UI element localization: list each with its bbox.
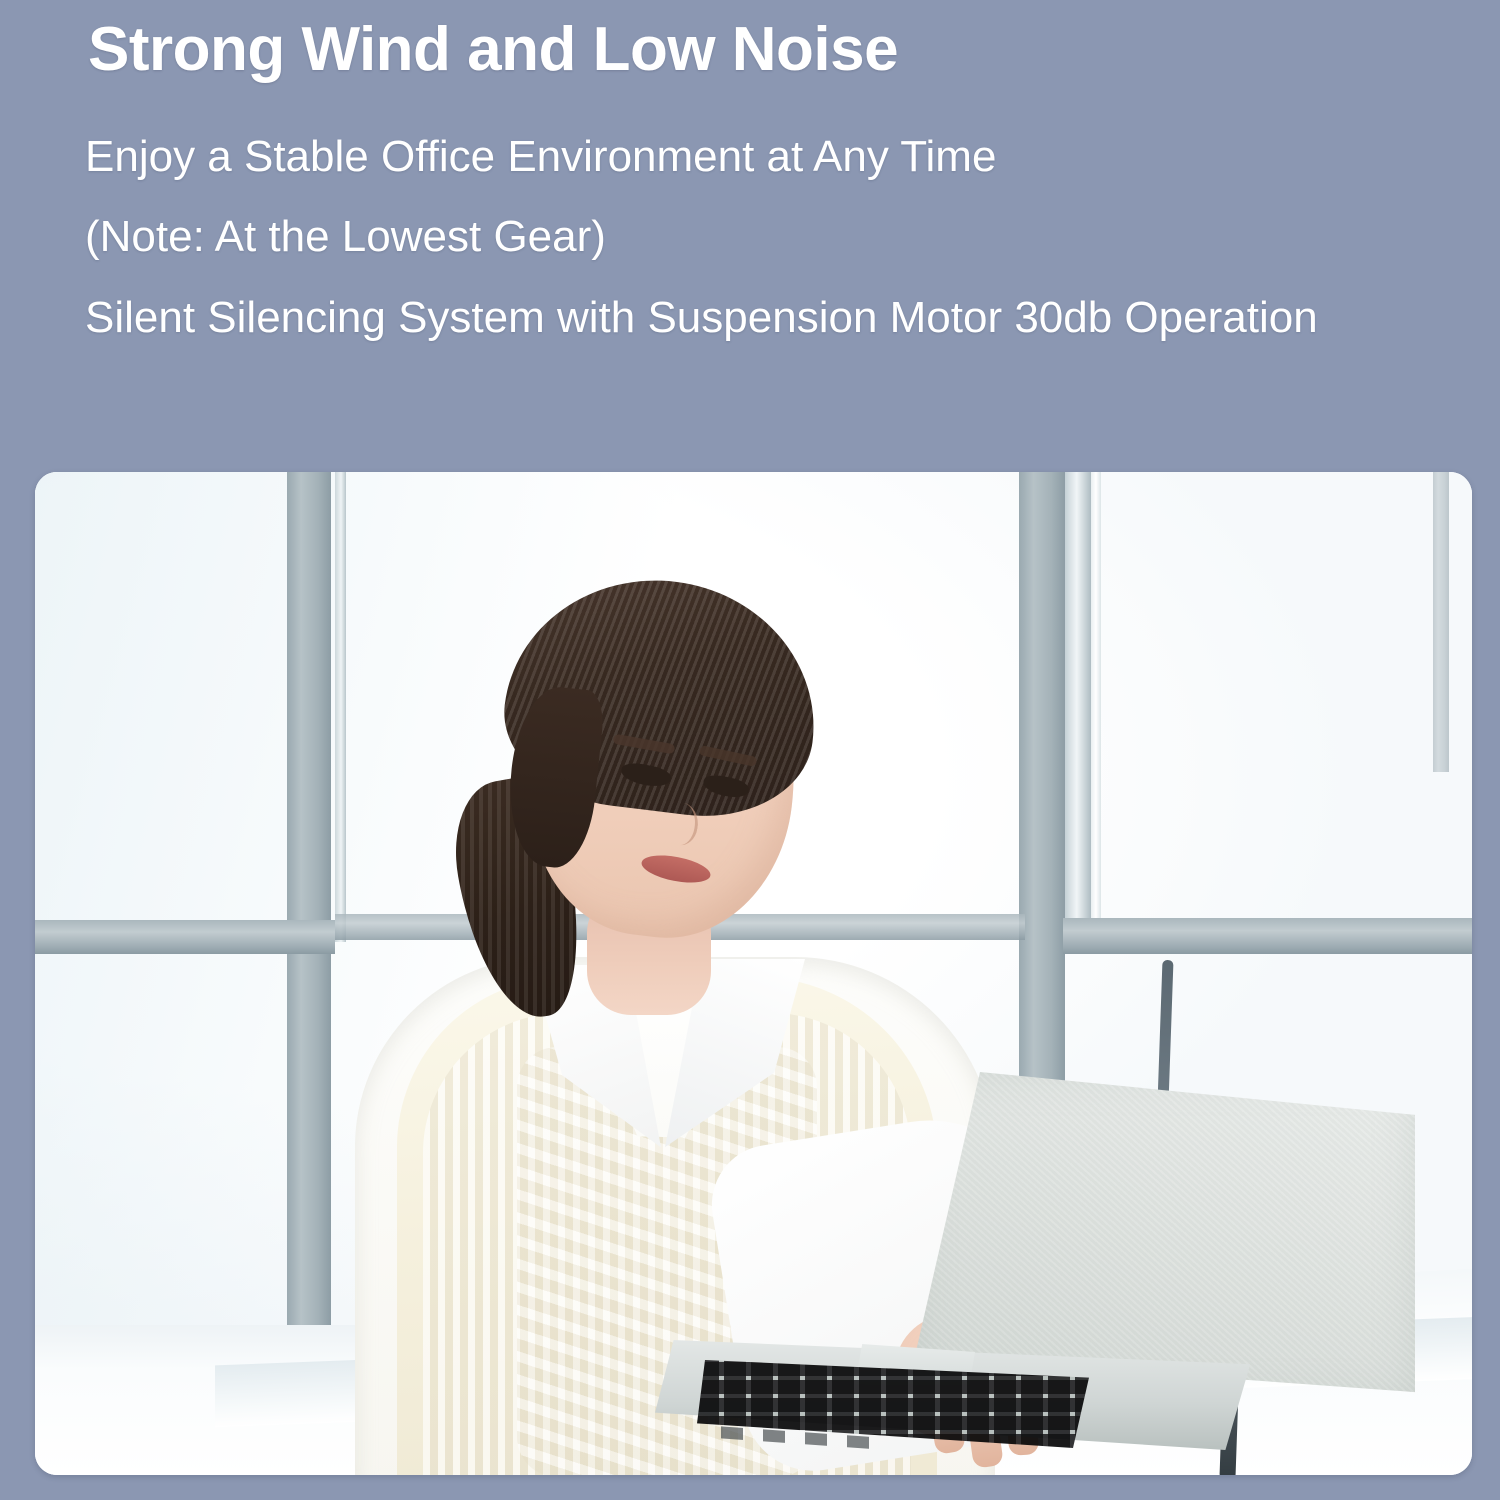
- promo-line-2: (Note: At the Lowest Gear): [85, 211, 606, 263]
- window-mullion-far-right: [1433, 472, 1449, 772]
- laptop: [655, 1072, 1415, 1472]
- window-mullion-left-upper: [287, 472, 331, 942]
- promo-text-block: Strong Wind and Low Noise Enjoy a Stable…: [0, 0, 1500, 470]
- promo-line-1: Enjoy a Stable Office Environment at Any…: [85, 131, 996, 183]
- laptop-lid: [915, 1072, 1415, 1402]
- product-lifestyle-photo: [35, 472, 1472, 1475]
- page-title: Strong Wind and Low Noise: [88, 14, 898, 86]
- promo-line-3: Silent Silencing System with Suspension …: [85, 292, 1318, 344]
- window-rail-left: [35, 920, 335, 954]
- office-scene: [35, 472, 1472, 1475]
- window-rail-right: [1063, 918, 1472, 954]
